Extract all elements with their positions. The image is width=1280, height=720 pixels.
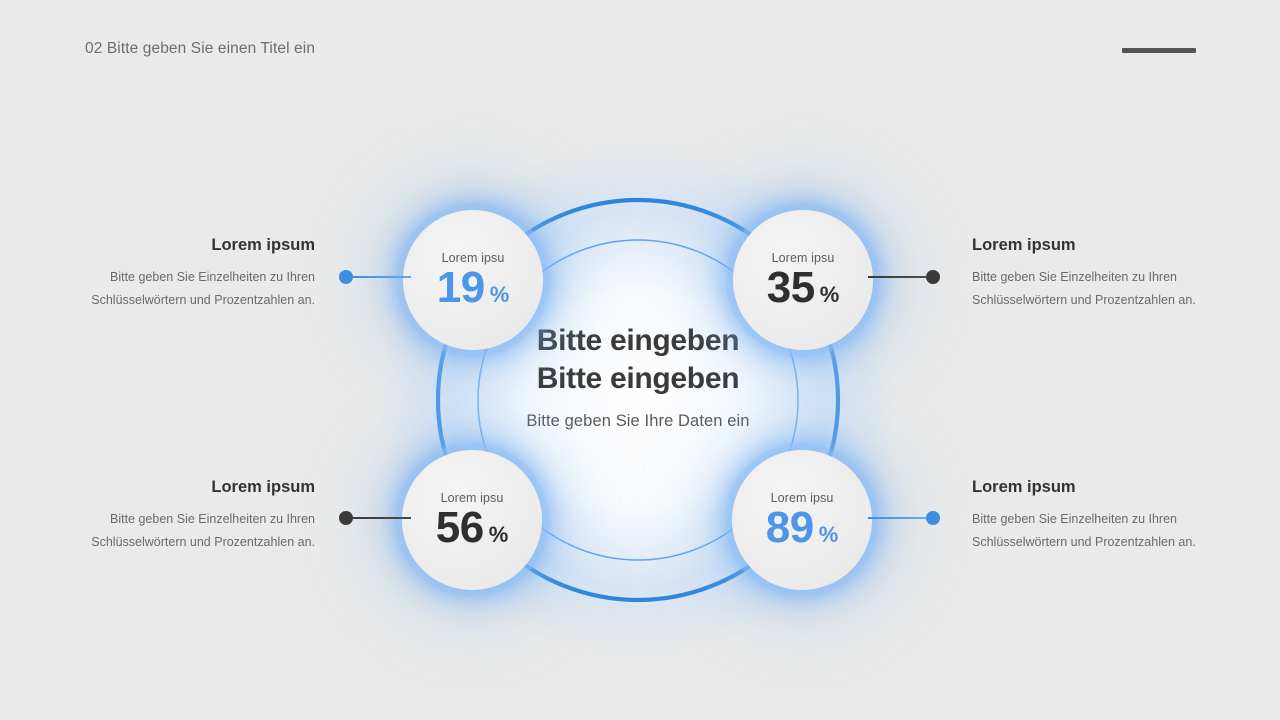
metric-value-group: 89 %	[766, 506, 839, 550]
side-label-line-2: Schlüsselwörtern und Prozentzahlen an.	[65, 289, 315, 312]
connector-line	[868, 276, 926, 279]
connector-top-left	[339, 270, 411, 284]
metric-circle-top-left[interactable]: Lorem ipsu 19 %	[403, 210, 543, 350]
connector-dot-icon	[339, 511, 353, 525]
metric-percent-sign: %	[819, 524, 839, 546]
side-label-line-2: Schlüsselwörtern und Prozentzahlen an.	[65, 531, 315, 554]
metric-percent-sign: %	[820, 284, 840, 306]
metric-percent-sign: %	[489, 524, 509, 546]
metric-number: 35	[767, 266, 815, 310]
side-label-description: Bitte geben Sie Einzelheiten zu Ihren Sc…	[65, 508, 315, 554]
slide-stage: 02 Bitte geben Sie einen Titel ein Bitte…	[0, 0, 1280, 720]
side-label-line-2: Schlüsselwörtern und Prozentzahlen an.	[972, 531, 1222, 554]
connector-bottom-right	[868, 511, 940, 525]
metric-number: 56	[436, 506, 484, 550]
connector-dot-icon	[926, 270, 940, 284]
connector-dot-icon	[926, 511, 940, 525]
concentric-rings-diagram	[0, 0, 1280, 720]
side-label-description: Bitte geben Sie Einzelheiten zu Ihren Sc…	[972, 266, 1222, 312]
metric-circle-bottom-left[interactable]: Lorem ipsu 56 %	[402, 450, 542, 590]
connector-dot-icon	[339, 270, 353, 284]
side-label-bottom-left: Lorem ipsum Bitte geben Sie Einzelheiten…	[65, 478, 315, 554]
metric-circle-bottom-right[interactable]: Lorem ipsu 89 %	[732, 450, 872, 590]
metric-number: 19	[437, 266, 485, 310]
connector-line	[353, 517, 411, 520]
side-label-line-1: Bitte geben Sie Einzelheiten zu Ihren	[972, 266, 1222, 289]
side-label-description: Bitte geben Sie Einzelheiten zu Ihren Sc…	[65, 266, 315, 312]
metric-percent-sign: %	[490, 284, 510, 306]
side-label-line-1: Bitte geben Sie Einzelheiten zu Ihren	[65, 266, 315, 289]
metric-value-group: 56 %	[436, 506, 509, 550]
metric-number: 89	[766, 506, 814, 550]
side-label-top-left: Lorem ipsum Bitte geben Sie Einzelheiten…	[65, 236, 315, 312]
side-label-title: Lorem ipsum	[65, 478, 315, 497]
side-label-line-1: Bitte geben Sie Einzelheiten zu Ihren	[65, 508, 315, 531]
side-label-top-right: Lorem ipsum Bitte geben Sie Einzelheiten…	[972, 236, 1222, 312]
metric-value-group: 19 %	[437, 266, 510, 310]
connector-top-right	[868, 270, 940, 284]
metric-circle-top-right[interactable]: Lorem ipsu 35 %	[733, 210, 873, 350]
side-label-title: Lorem ipsum	[972, 236, 1222, 255]
side-label-bottom-right: Lorem ipsum Bitte geben Sie Einzelheiten…	[972, 478, 1222, 554]
metric-value-group: 35 %	[767, 266, 840, 310]
connector-line	[353, 276, 411, 279]
connector-bottom-left	[339, 511, 411, 525]
side-label-line-2: Schlüsselwörtern und Prozentzahlen an.	[972, 289, 1222, 312]
side-label-title: Lorem ipsum	[972, 478, 1222, 497]
side-label-line-1: Bitte geben Sie Einzelheiten zu Ihren	[972, 508, 1222, 531]
side-label-description: Bitte geben Sie Einzelheiten zu Ihren Sc…	[972, 508, 1222, 554]
side-label-title: Lorem ipsum	[65, 236, 315, 255]
connector-line	[868, 517, 926, 520]
